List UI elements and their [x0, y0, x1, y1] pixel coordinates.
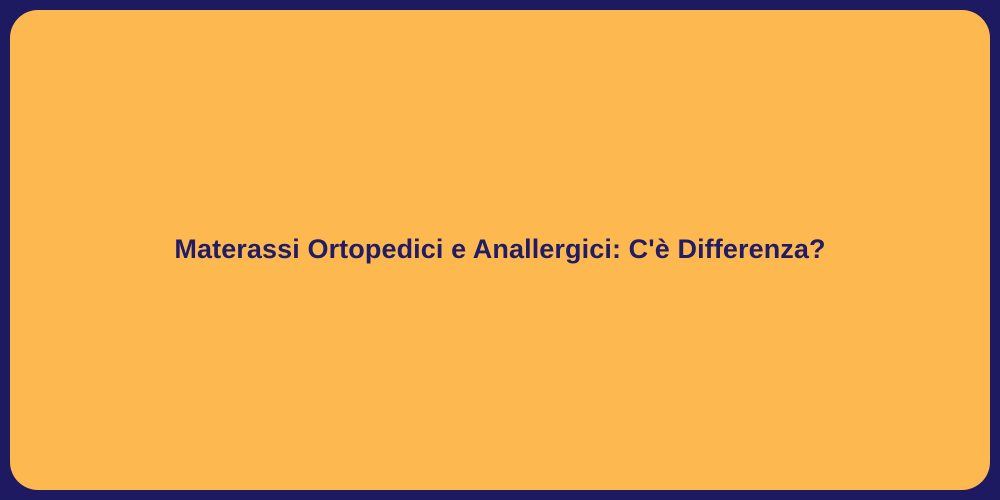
- page-title: Materassi Ortopedici e Anallergici: C'è …: [174, 233, 825, 267]
- article-title-card: Materassi Ortopedici e Anallergici: C'è …: [10, 10, 990, 490]
- page-frame: Materassi Ortopedici e Anallergici: C'è …: [0, 0, 1000, 500]
